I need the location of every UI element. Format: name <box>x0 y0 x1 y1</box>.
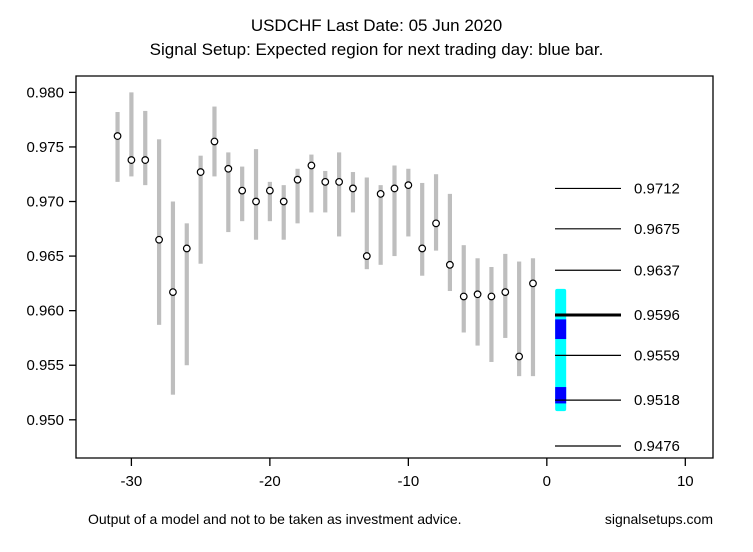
price-level-label: 0.9637 <box>634 262 680 279</box>
price-bar-range <box>143 111 147 185</box>
price-bar-range <box>489 267 493 362</box>
price-bar-close-marker <box>239 187 246 194</box>
price-bar-close-marker <box>322 179 329 186</box>
price-bar-range <box>462 245 466 332</box>
price-bar <box>114 112 121 182</box>
price-bar-close-marker <box>391 185 398 192</box>
y-axis-tick-label: 0.980 <box>26 84 64 101</box>
price-bar-close-marker <box>447 262 454 269</box>
price-bar <box>364 178 371 270</box>
price-bar-close-marker <box>294 176 301 183</box>
price-bar <box>308 155 315 213</box>
price-bar <box>447 194 454 291</box>
price-bar <box>294 169 301 224</box>
price-level: 0.9712 <box>555 180 680 197</box>
price-bar-range <box>323 171 327 212</box>
price-bar <box>502 254 509 338</box>
price-bar <box>197 156 204 264</box>
y-axis: 0.9500.9550.9600.9650.9700.9750.980 <box>26 84 76 428</box>
price-level: 0.9518 <box>555 392 680 409</box>
price-bar <box>460 245 467 332</box>
price-bar-range <box>157 139 161 325</box>
price-bar-range <box>434 174 438 250</box>
price-bar-close-marker <box>128 157 135 164</box>
price-bar <box>142 111 149 185</box>
price-bar-close-marker <box>336 179 343 186</box>
price-bar <box>391 165 398 256</box>
price-levels-group: 0.97120.96750.96370.95960.95590.95180.94… <box>555 180 680 455</box>
price-bar-close-marker <box>502 289 509 296</box>
price-bar-close-marker <box>211 138 218 145</box>
price-bar-close-marker <box>474 291 481 298</box>
price-bar <box>488 267 495 362</box>
price-bar-range <box>392 165 396 256</box>
price-bar-range <box>531 258 535 376</box>
price-bar <box>336 152 343 236</box>
price-bars-group <box>114 92 536 394</box>
price-bar <box>377 185 384 265</box>
footer-disclaimer: Output of a model and not to be taken as… <box>88 511 462 527</box>
price-bar-range <box>406 169 410 237</box>
y-axis-tick-label: 0.955 <box>26 357 64 374</box>
price-bar-close-marker <box>156 236 163 243</box>
price-bar-close-marker <box>253 198 260 205</box>
price-bar <box>267 182 274 221</box>
price-level-label: 0.9675 <box>634 221 680 238</box>
price-level: 0.9596 <box>555 307 680 324</box>
price-bar <box>530 258 537 376</box>
price-level-label: 0.9712 <box>634 180 680 197</box>
price-bar <box>433 174 440 250</box>
price-bar <box>156 139 163 325</box>
price-bar-range <box>254 149 258 240</box>
price-level-label: 0.9596 <box>634 307 680 324</box>
chart-root: USDCHF Last Date: 05 Jun 2020 Signal Set… <box>0 0 753 552</box>
price-bar-range <box>282 185 286 240</box>
price-bar-close-marker <box>170 289 177 296</box>
price-bar <box>322 171 329 212</box>
price-bar-range <box>226 152 230 232</box>
price-bar-range <box>448 194 452 291</box>
price-bar <box>419 183 426 276</box>
price-level: 0.9675 <box>555 221 680 238</box>
price-bar <box>239 167 246 222</box>
price-bar-range <box>475 258 479 345</box>
price-bar-close-marker <box>142 157 149 164</box>
y-axis-tick-label: 0.975 <box>26 139 64 156</box>
price-bar-range <box>171 202 175 395</box>
price-level: 0.9559 <box>555 347 680 364</box>
price-level: 0.9476 <box>555 438 680 455</box>
price-bar-close-marker <box>350 185 357 192</box>
price-bar <box>225 152 232 232</box>
price-bar-close-marker <box>516 353 523 360</box>
y-axis-tick-label: 0.970 <box>26 194 64 211</box>
price-bar-close-marker <box>460 293 467 300</box>
price-bar <box>280 185 287 240</box>
x-axis-tick-label: 0 <box>543 473 551 490</box>
price-bar-close-marker <box>433 220 440 227</box>
chart-plot-area: 0.9500.9550.9600.9650.9700.9750.980 -30-… <box>0 0 753 552</box>
forecast-highlight-segment <box>555 387 566 403</box>
price-bar-close-marker <box>225 165 232 172</box>
price-bar-close-marker <box>530 280 537 287</box>
price-bar <box>211 107 218 177</box>
price-bar <box>516 262 523 377</box>
x-axis: -30-20-10010 <box>121 458 694 490</box>
price-bar-close-marker <box>308 162 315 169</box>
price-bar <box>350 172 357 212</box>
price-bar-range <box>420 183 424 276</box>
y-axis-tick-label: 0.965 <box>26 248 64 265</box>
price-bar <box>128 92 135 176</box>
price-bar-close-marker <box>197 169 204 176</box>
x-axis-tick-label: 10 <box>677 473 694 490</box>
price-level-label: 0.9518 <box>634 392 680 409</box>
price-bar-close-marker <box>419 245 426 252</box>
price-bar <box>405 169 412 237</box>
x-axis-tick-label: -10 <box>398 473 420 490</box>
y-axis-tick-label: 0.960 <box>26 303 64 320</box>
price-bar-close-marker <box>114 133 121 140</box>
price-bar-close-marker <box>488 293 495 300</box>
forecast-highlight-segment <box>555 319 566 339</box>
footer-source: signalsetups.com <box>605 511 713 527</box>
y-axis-tick-label: 0.950 <box>26 412 64 429</box>
x-axis-tick-label: -30 <box>121 473 143 490</box>
price-bar-close-marker <box>377 191 384 198</box>
price-bar-range <box>115 112 119 182</box>
price-bar-close-marker <box>267 187 274 194</box>
price-bar-close-marker <box>280 198 287 205</box>
price-level-label: 0.9559 <box>634 347 680 364</box>
price-bar-close-marker <box>405 182 412 189</box>
price-bar-range <box>337 152 341 236</box>
price-bar <box>474 258 481 345</box>
footer-group: Output of a model and not to be taken as… <box>88 511 713 527</box>
price-level-label: 0.9476 <box>634 438 680 455</box>
price-bar-close-marker <box>364 253 371 260</box>
forecast-bar-group <box>555 289 566 411</box>
price-bar <box>183 223 190 365</box>
x-axis-tick-label: -20 <box>259 473 281 490</box>
price-bar <box>253 149 260 240</box>
price-bar <box>170 202 177 395</box>
price-bar-close-marker <box>183 245 190 252</box>
price-level: 0.9637 <box>555 262 680 279</box>
